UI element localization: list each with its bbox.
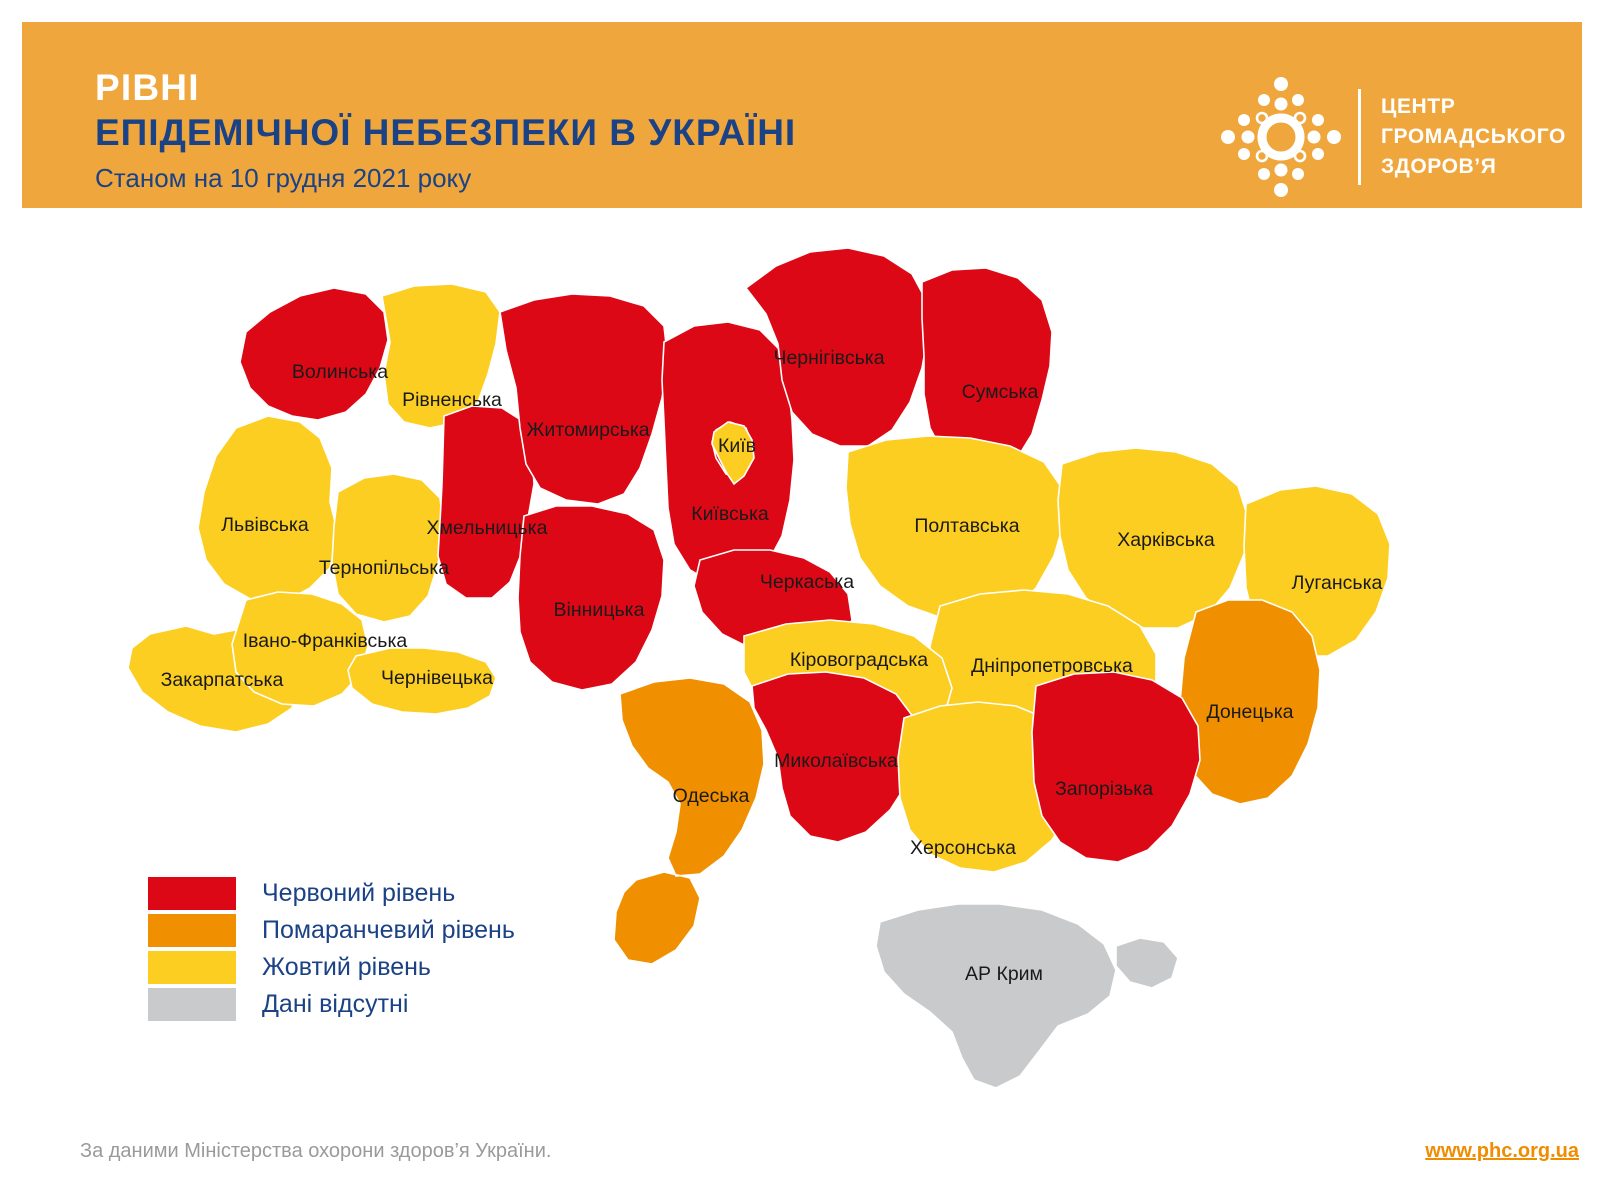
footer-website-link[interactable]: www.phc.org.ua	[1425, 1140, 1579, 1163]
logo-text-line2: ГРОМАДСЬКОГО	[1381, 122, 1566, 152]
map-label-Тернопільська: Тернопільська	[319, 557, 449, 579]
map-label-Рівненська: Рівненська	[402, 389, 502, 411]
legend-label-yellow: Жовтий рівень	[262, 951, 431, 984]
map-label-АР Крим: АР Крим	[965, 963, 1043, 985]
map-label-Кіровоградська: Кіровоградська	[790, 649, 928, 671]
legend-label-gray: Дані відсутні	[262, 988, 408, 1021]
header-band: РІВНІ ЕПІДЕМІЧНОЇ НЕБЕЗПЕКИ В УКРАЇНІ Ст…	[22, 22, 1582, 208]
map-label-Одеська: Одеська	[673, 785, 750, 807]
legend-label-red: Червоний рівень	[262, 877, 455, 910]
map-label-Волинська: Волинська	[292, 361, 388, 383]
map-label-Київська: Київська	[691, 503, 769, 525]
map-label-Луганська: Луганська	[1292, 572, 1383, 594]
logo-text: ЦЕНТР ГРОМАДСЬКОГО ЗДОРОВ’Я	[1381, 92, 1566, 182]
region-odeska[interactable]	[614, 678, 764, 964]
region-volynska[interactable]	[240, 288, 388, 420]
legend-swatch-gray	[148, 988, 236, 1021]
map-label-Харківська: Харківська	[1117, 529, 1215, 551]
legend-item: Жовтий рівень	[148, 950, 515, 985]
legend-item: Помаранчевий рівень	[148, 913, 515, 948]
map-label-Київ: Київ	[718, 435, 756, 457]
map-label-Донецька: Донецька	[1206, 701, 1293, 723]
map-label-Запорізька: Запорізька	[1055, 778, 1153, 800]
legend-swatch-red	[148, 877, 236, 910]
map-label-Чернівецька: Чернівецька	[381, 667, 493, 689]
logo-text-line1: ЦЕНТР	[1381, 92, 1566, 122]
page-title-line1: РІВНІ	[95, 66, 796, 110]
legend-item: Червоний рівень	[148, 876, 515, 911]
map-label-Житомирська: Житомирська	[526, 419, 649, 441]
region-ternopilska[interactable]	[332, 474, 444, 622]
map-label-Миколаївська: Миколаївська	[774, 750, 898, 772]
map-label-Дніпропетровська: Дніпропетровська	[971, 655, 1133, 677]
legend: Червоний рівень Помаранчевий рівень Жовт…	[148, 876, 515, 1024]
legend-swatch-orange	[148, 914, 236, 947]
dots-diamond-logo-icon	[1218, 74, 1344, 200]
organization-logo: ЦЕНТР ГРОМАДСЬКОГО ЗДОРОВ’Я	[1218, 74, 1566, 200]
map-label-Херсонська: Херсонська	[910, 837, 1016, 859]
map-label-Івано-Франківська: Івано-Франківська	[243, 630, 408, 652]
legend-item: Дані відсутні	[148, 987, 515, 1022]
map-label-Чернігівська: Чернігівська	[773, 347, 884, 369]
map-label-Вінницька: Вінницька	[554, 599, 645, 621]
map-label-Львівська: Львівська	[221, 514, 309, 536]
logo-divider	[1358, 89, 1361, 185]
legend-swatch-yellow	[148, 951, 236, 984]
region-lvivska[interactable]	[198, 416, 338, 602]
map-label-Черкаська: Черкаська	[760, 571, 854, 593]
logo-text-line3: ЗДОРОВ’Я	[1381, 152, 1566, 182]
title-block: РІВНІ ЕПІДЕМІЧНОЇ НЕБЕЗПЕКИ В УКРАЇНІ Ст…	[95, 66, 796, 194]
map-label-Сумська: Сумська	[962, 381, 1039, 403]
map-label-Хмельницька: Хмельницька	[427, 517, 548, 539]
page-subtitle: Станом на 10 грудня 2021 року	[95, 162, 796, 194]
page-title-line2: ЕПІДЕМІЧНОЇ НЕБЕЗПЕКИ В УКРАЇНІ	[95, 110, 796, 156]
map-label-Полтавська: Полтавська	[914, 515, 1019, 537]
legend-label-orange: Помаранчевий рівень	[262, 914, 515, 947]
map-label-Закарпатська: Закарпатська	[161, 669, 284, 691]
region-ar-krym[interactable]	[876, 904, 1178, 1088]
region-zaporizhska[interactable]	[1032, 672, 1200, 862]
footer-source-note: За даними Міністерства охорони здоров’я …	[80, 1140, 551, 1163]
